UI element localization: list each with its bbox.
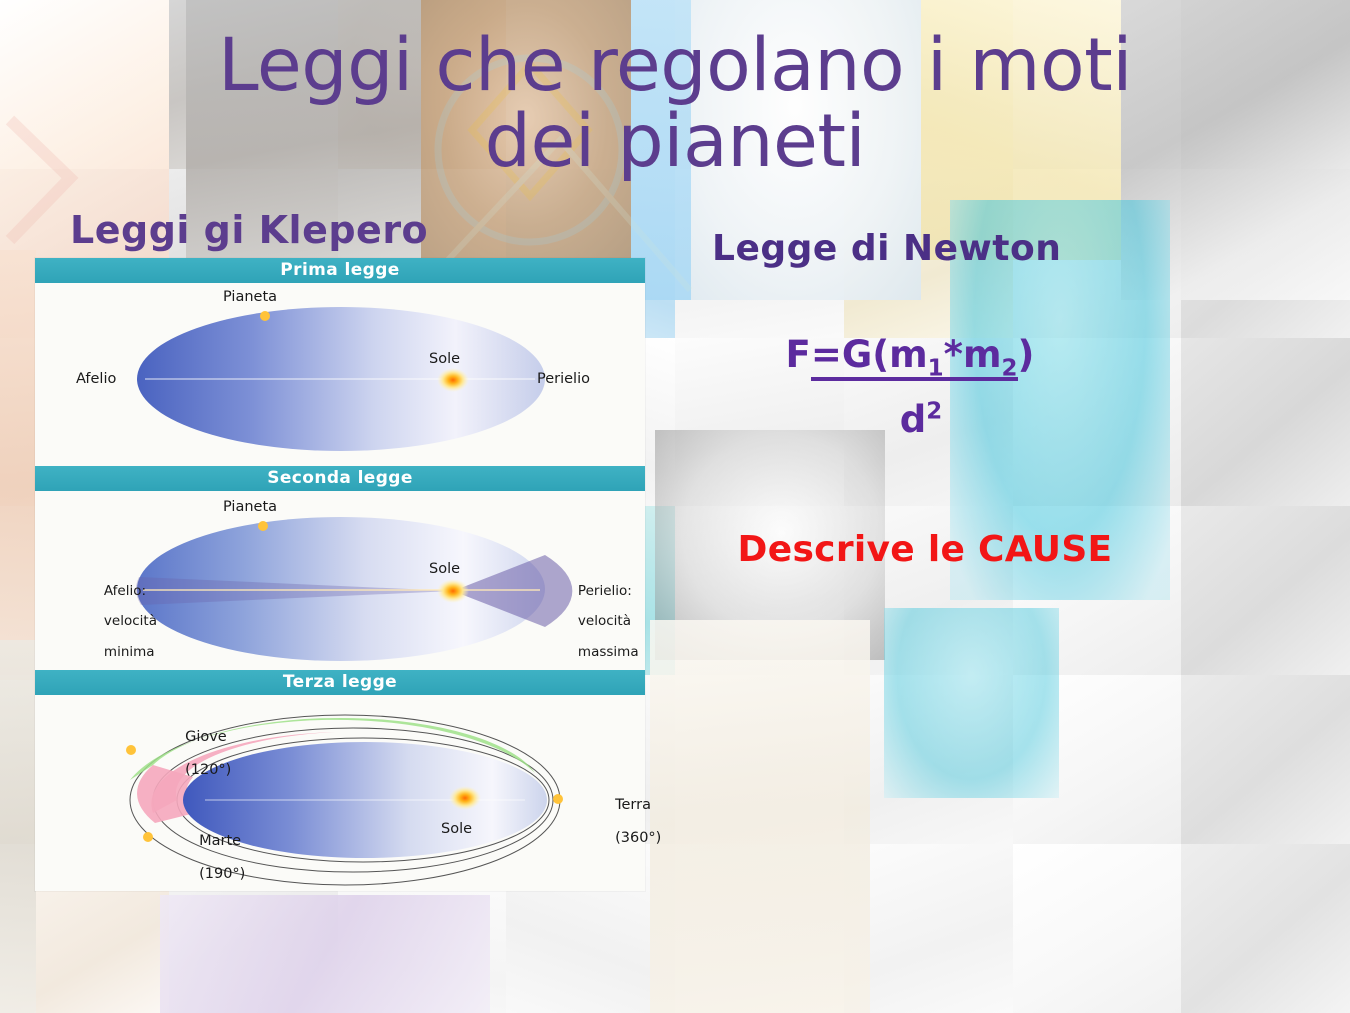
- photo-left-warm-column: [0, 250, 36, 680]
- first-law-body: Pianeta Afelio Sole Perielio: [35, 283, 645, 466]
- first-law-label-afelio: Afelio: [76, 371, 116, 387]
- collage-tile: [1181, 506, 1350, 675]
- first-law-label-perielio: Perielio: [537, 371, 590, 387]
- formula-g-open: =G(m: [811, 333, 928, 376]
- photo-bottom-purple-strip: [160, 895, 490, 1013]
- formula-numerator: F=G(m1*m2): [660, 336, 1160, 380]
- subtitle-newton: Legge di Newton: [712, 228, 1061, 269]
- page-title-line-2: dei pianeti: [120, 104, 1230, 180]
- second-law-label-pianeta: Pianeta: [223, 499, 277, 515]
- kepler-laws-figure: Prima legge: [35, 258, 645, 891]
- third-law-label-marte: Marte (190°): [153, 817, 245, 898]
- giove-line-1: Giove: [185, 729, 227, 745]
- slide-canvas: Leggi che regolano i moti dei pianeti Le…: [0, 0, 1350, 1013]
- collage-tile: [1181, 338, 1350, 507]
- photo-bottom-woman-headwrap: [884, 608, 1059, 798]
- perielio-line-3: massima: [578, 644, 639, 660]
- third-law-orbit-diagram: [35, 695, 645, 903]
- photo-bottom-newsprint: [650, 620, 870, 1013]
- perielio-line-1: Perielio:: [578, 583, 632, 599]
- second-law-body: Pianeta Afelio: velocità minima Sole Per…: [35, 491, 645, 674]
- formula-exponent: 2: [926, 399, 942, 425]
- first-law-label-pianeta: Pianeta: [223, 289, 277, 305]
- collage-tile: [1013, 844, 1182, 1013]
- descrive-le-cause-text: Descrive le CAUSE: [660, 529, 1190, 570]
- formula-sub-2: 2: [1002, 355, 1018, 381]
- subtitle-kepler: Leggi gi Klepero: [70, 208, 428, 252]
- marte-line-1: Marte: [199, 833, 241, 849]
- formula-sub-1: 1: [928, 355, 944, 381]
- afelio-line-1: Afelio:: [104, 583, 146, 599]
- third-law-heading: Terza legge: [35, 670, 645, 695]
- page-title-line-1: Leggi che regolano i moti: [120, 28, 1230, 104]
- kepler-first-law-block: Prima legge: [35, 258, 645, 466]
- formula-close-paren: ): [1018, 333, 1035, 376]
- kepler-second-law-block: Seconda legge: [35, 466, 645, 674]
- second-law-heading: Seconda legge: [35, 466, 645, 491]
- afelio-line-2: velocità: [104, 613, 157, 629]
- third-law-body: Giove (120°) Marte (190°) Terra (360°) S…: [35, 695, 645, 903]
- second-law-label-afelio: Afelio: velocità minima: [61, 569, 157, 675]
- terra-line-1: Terra: [615, 797, 651, 813]
- formula-denominator: d2: [660, 398, 1160, 441]
- third-law-label-sole: Sole: [441, 821, 472, 837]
- terra-line-2: (360°): [615, 830, 661, 846]
- third-law-label-giove: Giove (120°): [139, 713, 231, 794]
- formula-d: d: [900, 398, 927, 441]
- formula-star-m: *m: [944, 333, 1002, 376]
- formula-f: F: [786, 333, 811, 376]
- afelio-line-3: minima: [104, 644, 155, 660]
- kepler-third-law-block: Terza legge: [35, 670, 645, 903]
- newton-formula: F=G(m1*m2) d2: [660, 336, 1160, 441]
- collage-tile: [1181, 844, 1350, 1013]
- page-title: Leggi che regolano i moti dei pianeti: [120, 28, 1230, 180]
- third-law-label-terra: Terra (360°): [569, 781, 661, 862]
- first-law-label-sole: Sole: [429, 351, 460, 367]
- marte-line-2: (190°): [199, 866, 245, 882]
- perielio-line-2: velocità: [578, 613, 631, 629]
- first-law-heading: Prima legge: [35, 258, 645, 283]
- giove-line-2: (120°): [185, 762, 231, 778]
- collage-tile: [1181, 675, 1350, 844]
- photo-left-lower-column: [0, 640, 36, 1013]
- second-law-label-sole: Sole: [429, 561, 460, 577]
- formula-underlined-part: =G(m1*m2: [811, 333, 1018, 381]
- second-law-label-perielio: Perielio: velocità massima: [535, 569, 639, 675]
